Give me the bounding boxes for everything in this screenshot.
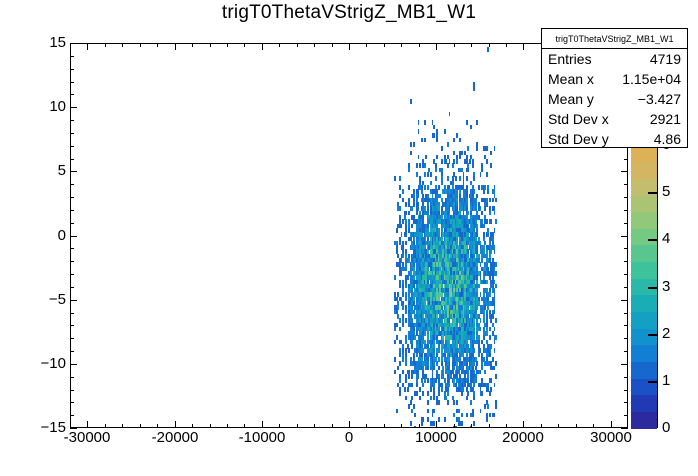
histogram-bin xyxy=(484,404,486,409)
histogram-bin xyxy=(402,323,404,328)
x-axis-minor-tick-top xyxy=(384,43,385,47)
x-axis-tick xyxy=(87,421,88,428)
histogram-bin xyxy=(495,262,497,267)
x-axis-minor-tick-top xyxy=(297,43,298,47)
x-axis-minor-tick-top xyxy=(419,43,420,47)
histogram-bin xyxy=(402,370,404,375)
histogram-bin xyxy=(489,391,491,396)
histogram-bin xyxy=(433,366,435,371)
histogram-bin xyxy=(436,138,438,143)
x-axis-tick xyxy=(175,421,176,428)
stats-row-key: Mean x xyxy=(548,71,594,87)
x-axis-minor-tick xyxy=(489,424,490,428)
histogram-bin xyxy=(396,228,398,233)
histogram-bin xyxy=(430,181,432,186)
histogram-bin xyxy=(486,280,488,285)
histogram-bin xyxy=(487,47,489,52)
histogram-bin xyxy=(418,194,420,199)
y-axis-minor-tick-right xyxy=(624,197,628,198)
histogram-bin xyxy=(405,202,407,207)
histogram-bin xyxy=(408,211,410,216)
x-axis-minor-tick-top xyxy=(454,43,455,47)
histogram-bin xyxy=(401,271,403,276)
x-axis-minor-tick xyxy=(227,424,228,428)
y-axis-tick-right xyxy=(621,300,628,301)
y-axis-minor-tick xyxy=(70,133,74,134)
histogram-bin xyxy=(476,361,478,366)
x-axis-label: 0 xyxy=(345,430,353,445)
histogram-bin xyxy=(405,396,407,401)
histogram-bin xyxy=(424,185,426,190)
histogram-bin xyxy=(484,370,486,375)
y-axis-label: 10 xyxy=(49,99,66,114)
histogram-bin xyxy=(447,142,449,147)
histogram-bin xyxy=(470,400,472,405)
x-axis-minor-tick xyxy=(419,424,420,428)
histogram-bin xyxy=(408,168,410,173)
y-axis-tick xyxy=(70,236,77,237)
histogram-bin xyxy=(405,232,407,237)
histogram-bin xyxy=(444,129,446,134)
y-axis-minor-tick xyxy=(70,223,74,224)
y-axis-minor-tick-right xyxy=(624,415,628,416)
y-axis-minor-tick xyxy=(70,210,74,211)
histogram-bin xyxy=(418,155,420,160)
histogram-bin xyxy=(473,348,475,353)
histogram-bin xyxy=(490,249,492,254)
x-axis-label: -20000 xyxy=(152,430,199,445)
y-axis-minor-tick xyxy=(70,94,74,95)
x-axis-minor-tick-top xyxy=(506,43,507,47)
histogram-bin xyxy=(459,138,461,143)
palette-color-band xyxy=(631,262,657,279)
histogram-bin xyxy=(433,133,435,138)
y-axis-minor-tick xyxy=(70,390,74,391)
histogram-bin xyxy=(394,176,396,181)
y-axis-minor-tick xyxy=(70,274,74,275)
histogram-bin xyxy=(413,142,415,147)
histogram-bin xyxy=(486,159,488,164)
y-axis-tick xyxy=(70,300,77,301)
y-axis-minor-tick-right xyxy=(624,402,628,403)
histogram-bin xyxy=(394,327,396,332)
histogram-bin xyxy=(416,163,418,168)
histogram-bin xyxy=(394,357,396,362)
histogram-bin xyxy=(422,391,424,396)
histogram-bin xyxy=(483,224,485,229)
histogram-bin xyxy=(441,181,443,186)
histogram-bin xyxy=(481,366,483,371)
histogram-bin xyxy=(486,331,488,336)
x-axis-tick xyxy=(611,421,612,428)
histogram-bin xyxy=(473,86,475,91)
x-axis-minor-tick xyxy=(576,424,577,428)
histogram-bin xyxy=(394,370,396,375)
y-axis-tick-right xyxy=(621,236,628,237)
x-axis-minor-tick xyxy=(454,424,455,428)
palette-axis-tick xyxy=(648,287,658,289)
histogram-bin xyxy=(397,305,399,310)
histogram-bin xyxy=(447,391,449,396)
statistics-box[interactable]: trigT0ThetaVStrigZ_MB1_W1 Entries4719Mea… xyxy=(541,28,688,148)
histogram-bin xyxy=(402,219,404,224)
x-axis-minor-tick xyxy=(558,424,559,428)
histogram-bin xyxy=(422,383,424,388)
x-axis-minor-tick xyxy=(593,424,594,428)
x-axis-minor-tick-top xyxy=(244,43,245,47)
palette-color-band xyxy=(631,162,657,179)
histogram-bin xyxy=(405,318,407,323)
histogram-bin xyxy=(419,396,421,401)
histogram-bin xyxy=(494,340,496,345)
histogram-bin xyxy=(399,378,401,383)
histogram-bin xyxy=(489,353,491,358)
histogram-bin xyxy=(396,335,398,340)
stats-row-key: Std Dev y xyxy=(548,131,609,147)
histogram-bin xyxy=(476,120,478,125)
palette-axis-tick xyxy=(648,192,658,194)
x-axis-tick-top xyxy=(349,43,350,50)
histogram-bin xyxy=(427,391,429,396)
x-axis-minor-tick xyxy=(210,424,211,428)
histogram-bin xyxy=(449,112,451,117)
histogram-bin xyxy=(399,327,401,332)
histogram-bin xyxy=(490,344,492,349)
histogram-bin xyxy=(486,417,488,422)
y-axis-minor-tick xyxy=(70,261,74,262)
histogram-bin xyxy=(480,409,482,414)
y-axis-label: −10 xyxy=(41,356,66,371)
histogram-bin xyxy=(413,202,415,207)
x-axis-minor-tick xyxy=(140,424,141,428)
histogram-bin xyxy=(405,361,407,366)
histogram-bin xyxy=(436,155,438,160)
histogram-bin xyxy=(441,159,443,164)
y-axis-minor-tick xyxy=(70,248,74,249)
y-axis-minor-tick-right xyxy=(624,248,628,249)
histogram-bin xyxy=(433,421,435,426)
stats-row-value: 4719 xyxy=(650,51,681,67)
x-axis-minor-tick-top xyxy=(314,43,315,47)
histogram-bin xyxy=(438,400,440,405)
histogram-bin xyxy=(461,413,463,418)
histogram-bin xyxy=(433,396,435,401)
histogram-bin xyxy=(495,198,497,203)
histogram-bin xyxy=(484,206,486,211)
histogram-bin xyxy=(407,387,409,392)
y-axis-label: −5 xyxy=(49,292,66,307)
histogram-bin xyxy=(476,305,478,310)
histogram-bin xyxy=(481,258,483,263)
x-axis-minor-tick xyxy=(471,424,472,428)
histogram-bin xyxy=(494,146,496,151)
histogram-bin xyxy=(418,129,420,134)
palette-axis-tick xyxy=(648,381,658,383)
histogram-bin xyxy=(399,176,401,181)
y-axis-label: −15 xyxy=(41,420,66,435)
histogram-bin xyxy=(399,194,401,199)
histogram-bin xyxy=(438,357,440,362)
histogram-bin xyxy=(427,400,429,405)
y-axis-minor-tick-right xyxy=(624,351,628,352)
histogram-bin xyxy=(411,206,413,211)
x-axis-tick-top xyxy=(436,43,437,50)
histogram-bin xyxy=(418,120,420,125)
palette-color-band xyxy=(631,328,657,345)
histogram-bin xyxy=(438,185,440,190)
histogram-bin xyxy=(466,396,468,401)
histogram-bin xyxy=(453,159,455,164)
stats-row-key: Std Dev x xyxy=(548,111,609,127)
x-axis-minor-tick xyxy=(332,424,333,428)
histogram-bin xyxy=(494,310,496,315)
histogram-bin xyxy=(411,409,413,414)
histogram-bin xyxy=(490,219,492,224)
histogram-bin xyxy=(427,185,429,190)
histogram-bin xyxy=(495,271,497,276)
y-axis-minor-tick xyxy=(70,338,74,339)
y-axis-minor-tick-right xyxy=(624,325,628,326)
histogram-bin xyxy=(453,400,455,405)
y-axis-minor-tick-right xyxy=(624,287,628,288)
histogram-bin xyxy=(413,404,415,409)
y-axis-minor-tick xyxy=(70,377,74,378)
x-axis-tick xyxy=(436,421,437,428)
histogram-bin xyxy=(473,396,475,401)
histogram-bin xyxy=(453,413,455,418)
histogram-bin xyxy=(478,284,480,289)
histogram-bin xyxy=(458,409,460,414)
x-axis-tick-top xyxy=(523,43,524,50)
y-axis-tick xyxy=(70,43,77,44)
histogram-bin xyxy=(408,185,410,190)
histogram-bin xyxy=(444,417,446,422)
histogram-bin xyxy=(399,284,401,289)
histogram-bin xyxy=(456,133,458,138)
x-axis-minor-tick-top xyxy=(489,43,490,47)
histogram-bin xyxy=(466,120,468,125)
stats-row: Std Dev x2921 xyxy=(542,109,687,129)
histogram-bin xyxy=(461,421,463,426)
histogram-bin xyxy=(487,404,489,409)
histogram-bin xyxy=(459,176,461,181)
histogram-bin xyxy=(407,275,409,280)
histogram-bin xyxy=(424,120,426,125)
x-axis-minor-tick-top xyxy=(157,43,158,47)
x-axis-label: 30000 xyxy=(590,430,632,445)
histogram-bin xyxy=(424,172,426,177)
histogram-bin xyxy=(399,353,401,358)
histogram-bin xyxy=(414,426,416,427)
histogram-bin xyxy=(466,413,468,418)
histogram-bin xyxy=(455,426,457,427)
histogram-bin xyxy=(489,198,491,203)
histogram-bin xyxy=(402,198,404,203)
histogram-bin xyxy=(495,219,497,224)
histogram-bin xyxy=(483,189,485,194)
histogram-bin xyxy=(453,151,455,156)
histogram-bin xyxy=(421,138,423,143)
y-axis-minor-tick xyxy=(70,197,74,198)
histogram-bin xyxy=(405,241,407,246)
histogram-bin xyxy=(483,335,485,340)
y-axis-minor-tick xyxy=(70,402,74,403)
x-axis-minor-tick xyxy=(541,424,542,428)
histogram-bin xyxy=(399,391,401,396)
histogram-bin xyxy=(438,366,440,371)
stats-row-key: Mean y xyxy=(548,91,594,107)
histogram-bin xyxy=(410,142,412,147)
histogram-bin xyxy=(424,378,426,383)
histogram-bin xyxy=(432,413,434,418)
stats-row-key: Entries xyxy=(548,51,592,67)
x-axis-label: 10000 xyxy=(415,430,457,445)
y-axis-minor-tick xyxy=(70,287,74,288)
y-axis-minor-tick xyxy=(70,82,74,83)
palette-axis-label: 0 xyxy=(662,420,670,435)
x-axis-minor-tick xyxy=(157,424,158,428)
histogram-bin xyxy=(447,163,449,168)
histogram-bin xyxy=(489,413,491,418)
histogram-bin xyxy=(397,366,399,371)
histogram-bin xyxy=(408,404,410,409)
palette-axis-label: 2 xyxy=(662,326,670,341)
histogram-bin xyxy=(396,409,398,414)
histogram-bin xyxy=(435,168,437,173)
histogram-bin xyxy=(405,211,407,216)
palette-color-band xyxy=(631,311,657,328)
root-canvas: trigT0ThetaVStrigZ_MB1_W1 151050−5−10−15… xyxy=(0,0,698,476)
y-axis-minor-tick xyxy=(70,351,74,352)
histogram-bin xyxy=(416,383,418,388)
x-axis-minor-tick xyxy=(192,424,193,428)
histogram-bin xyxy=(453,138,455,143)
x-axis-tick xyxy=(262,421,263,428)
histogram-bin xyxy=(424,138,426,143)
x-axis-minor-tick xyxy=(297,424,298,428)
histogram-bin xyxy=(405,310,407,315)
histogram-bin xyxy=(410,99,412,104)
histogram-bin xyxy=(473,189,475,194)
x-axis-label: -30000 xyxy=(64,430,111,445)
y-axis-minor-tick-right xyxy=(624,210,628,211)
palette-color-band xyxy=(631,228,657,245)
y-axis-minor-tick xyxy=(70,56,74,57)
histogram-bin xyxy=(472,163,474,168)
x-axis-minor-tick-top xyxy=(105,43,106,47)
histogram-bin xyxy=(408,348,410,353)
x-axis-minor-tick-top xyxy=(140,43,141,47)
histogram-bin xyxy=(441,387,443,392)
palette-axis-label: 4 xyxy=(662,231,670,246)
histogram-bin xyxy=(411,374,413,379)
histogram-bin xyxy=(469,159,471,164)
histogram-bin xyxy=(494,348,496,353)
histogram-bin xyxy=(414,413,416,418)
palette-axis-tick xyxy=(648,239,658,241)
histogram-bin xyxy=(481,391,483,396)
stats-row: Mean y−3.427 xyxy=(542,89,687,109)
histogram-bin xyxy=(476,146,478,151)
histogram-bin xyxy=(486,146,488,151)
histogram-bin xyxy=(489,292,491,297)
histogram-bin xyxy=(421,421,423,426)
y-axis-minor-tick-right xyxy=(624,313,628,314)
histogram-bin xyxy=(411,383,413,388)
histogram-bin xyxy=(405,267,407,272)
x-axis-tick-top xyxy=(175,43,176,50)
stats-row: Mean x1.15e+04 xyxy=(542,69,687,89)
histogram-bin xyxy=(418,374,420,379)
x-axis-minor-tick-top xyxy=(210,43,211,47)
histogram-bin xyxy=(447,176,449,181)
palette-color-band xyxy=(631,361,657,378)
y-axis-minor-tick-right xyxy=(624,377,628,378)
histogram-bin xyxy=(480,172,482,177)
histogram-bin xyxy=(430,172,432,177)
y-axis-minor-tick-right xyxy=(624,261,628,262)
x-axis-minor-tick-top xyxy=(122,43,123,47)
histogram-bin xyxy=(427,366,429,371)
histogram-bin xyxy=(489,211,491,216)
histogram-bin xyxy=(449,159,451,164)
histogram-bin xyxy=(467,211,469,216)
histogram-bin xyxy=(494,413,496,418)
histogram-bin xyxy=(490,163,492,168)
histogram-bin xyxy=(411,224,413,229)
histogram-bin xyxy=(486,172,488,177)
histogram-bin xyxy=(490,387,492,392)
y-axis-minor-tick-right xyxy=(624,338,628,339)
histogram-bin xyxy=(405,284,407,289)
histogram-bin xyxy=(394,275,396,280)
x-axis-minor-tick xyxy=(279,424,280,428)
histogram-bin xyxy=(419,163,421,168)
y-axis-label: 15 xyxy=(49,35,66,50)
y-axis-tick xyxy=(70,364,77,365)
histogram-bin xyxy=(408,374,410,379)
histogram-bin xyxy=(467,391,469,396)
histogram-bin xyxy=(402,357,404,362)
histogram-bin xyxy=(473,421,475,426)
histogram-bin xyxy=(494,228,496,233)
stats-box-title: trigT0ThetaVStrigZ_MB1_W1 xyxy=(542,29,687,49)
y-axis-label: 0 xyxy=(58,228,66,243)
histogram-bin xyxy=(452,163,454,168)
histogram-bin xyxy=(473,383,475,388)
histogram-bin xyxy=(399,185,401,190)
histogram-bin xyxy=(494,383,496,388)
histogram-bin xyxy=(480,370,482,375)
histogram-bin xyxy=(424,331,426,336)
histogram-bin xyxy=(435,378,437,383)
y-axis-minor-tick-right xyxy=(624,184,628,185)
histogram-bin xyxy=(455,176,457,181)
palette-axis-label: 1 xyxy=(662,373,670,388)
histogram-bin xyxy=(487,189,489,194)
x-axis-minor-tick-top xyxy=(471,43,472,47)
histogram-bin xyxy=(475,378,477,383)
palette-axis-label: 3 xyxy=(662,279,670,294)
histogram-bin xyxy=(416,391,418,396)
histogram-bin xyxy=(466,176,468,181)
x-axis-tick xyxy=(523,421,524,428)
histogram-bin xyxy=(402,254,404,259)
histogram-bin xyxy=(463,387,465,392)
y-axis-minor-tick xyxy=(70,159,74,160)
stats-rows: Entries4719Mean x1.15e+04Mean y−3.427Std… xyxy=(542,49,687,149)
x-axis-minor-tick xyxy=(122,424,123,428)
